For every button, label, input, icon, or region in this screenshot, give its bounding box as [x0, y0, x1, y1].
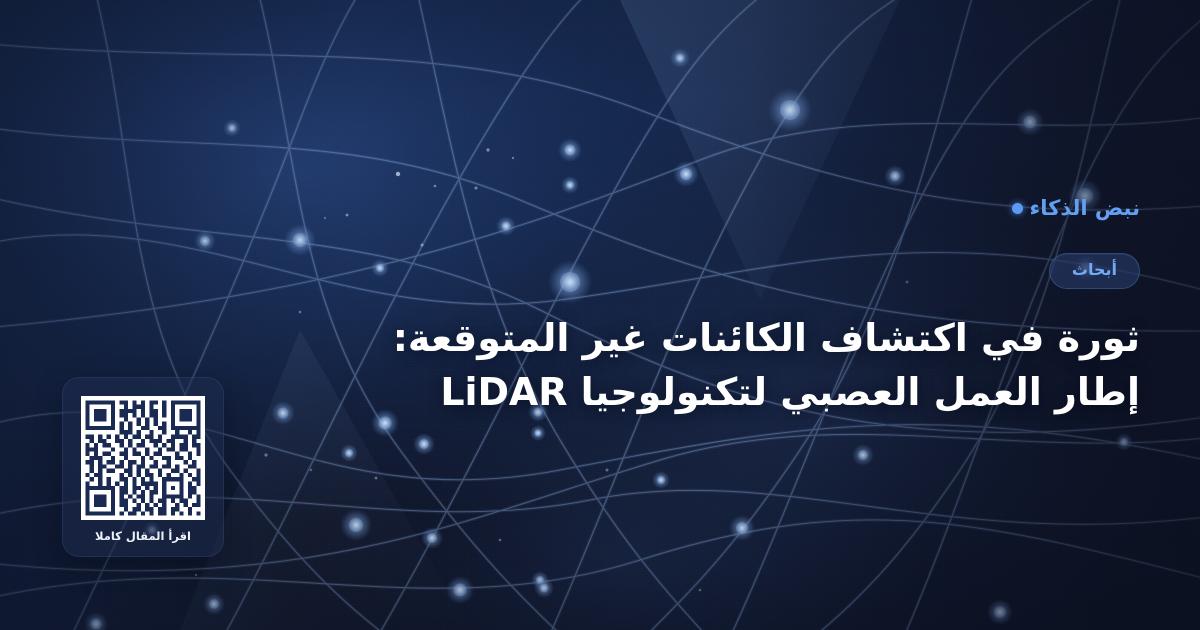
qr-code-card[interactable]: اقرأ المقال كاملا [62, 377, 224, 557]
social-share-card: اقرأ المقال كاملا نبض الذكاء أبحاث ثورة … [0, 0, 1200, 630]
page-title: ثورة في اكتشاف الكائنات غير المتوقعة: إط… [380, 312, 1140, 420]
qr-card-caption: اقرأ المقال كاملا [95, 531, 191, 543]
bullet-dot-icon [1012, 203, 1023, 214]
brand-lockup: نبض الذكاء [1012, 198, 1140, 219]
category-badge[interactable]: أبحاث [1049, 253, 1140, 289]
qr-code-icon[interactable] [81, 396, 205, 520]
brand-name: نبض الذكاء [1030, 198, 1140, 219]
